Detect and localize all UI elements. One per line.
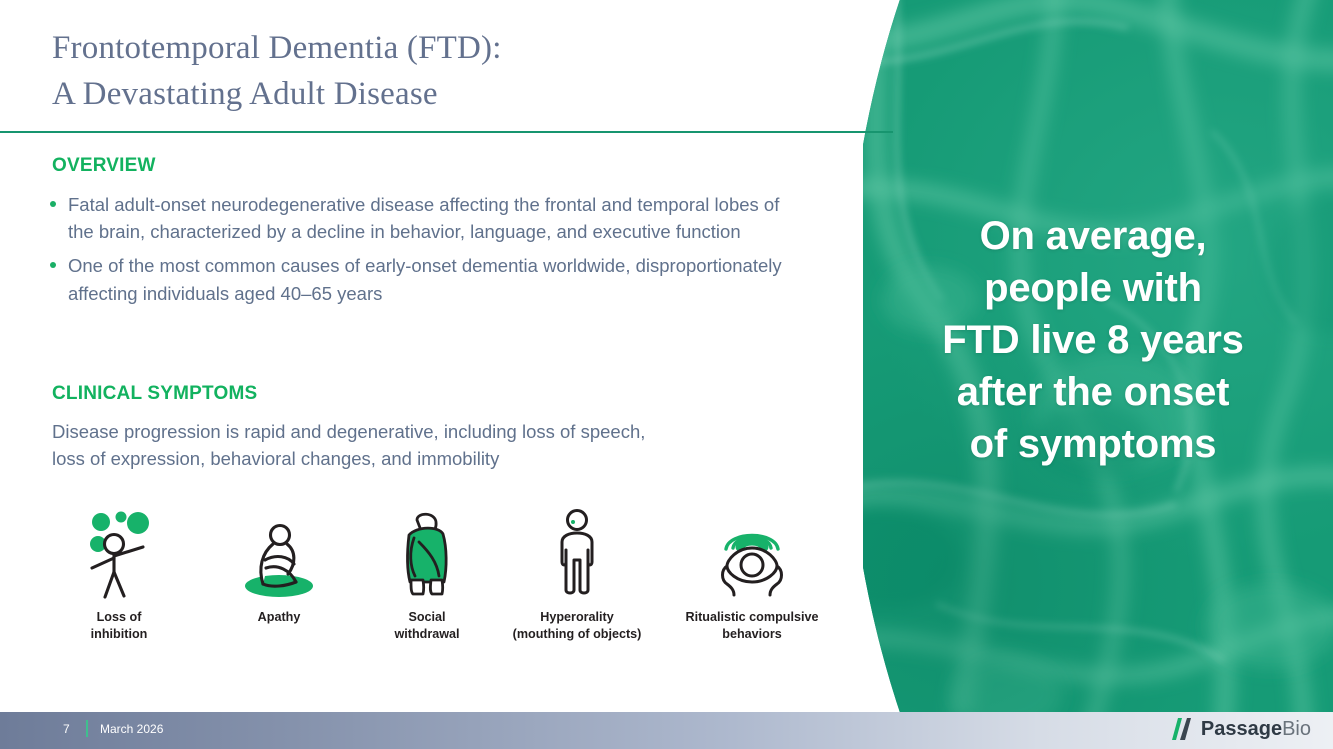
- footer-date: March 2026: [100, 722, 163, 736]
- logo-text-passage: Passage: [1201, 718, 1282, 740]
- slide-number: 7: [63, 722, 70, 736]
- person-speech-bubbles-icon: [34, 505, 204, 600]
- section-heading-clinical-symptoms: CLINICAL SYMPTOMS: [52, 383, 257, 405]
- slide-canvas: On average, people with FTD live 8 years…: [0, 0, 1333, 749]
- callout-quote: On average, people with FTD live 8 years…: [863, 210, 1323, 470]
- symptom-item-ritualistic-behaviors: Ritualistic compulsive behaviors: [652, 505, 852, 642]
- symptom-item-hyperorality: Hyperorality (mouthing of objects): [492, 505, 662, 642]
- person-withdrawn-icon: [342, 505, 512, 600]
- passage-bio-logo: PassageBio: [1172, 717, 1311, 740]
- person-standing-icon: [492, 505, 662, 600]
- symptom-label: Apathy: [194, 609, 364, 626]
- title-divider: [0, 131, 893, 133]
- passage-bio-wordmark: PassageBio: [1201, 719, 1311, 739]
- list-item: Fatal adult-onset neurodegenerative dise…: [46, 191, 806, 245]
- footer-bar: 7 March 2026 PassageBio: [0, 712, 1333, 749]
- section-heading-overview: OVERVIEW: [52, 155, 156, 177]
- symptom-label: Ritualistic compulsive behaviors: [652, 609, 852, 642]
- list-item: One of the most common causes of early-o…: [46, 252, 806, 306]
- person-sitting-hunched-icon: [194, 505, 364, 600]
- symptom-label: Social withdrawal: [342, 609, 512, 642]
- passage-bio-logomark-icon: [1172, 717, 1194, 740]
- symptom-label: Loss of inhibition: [34, 609, 204, 642]
- symptom-icon-row: Loss of inhibition Apathy: [52, 505, 872, 660]
- overview-bullet-list: Fatal adult-onset neurodegenerative dise…: [46, 191, 806, 314]
- symptom-item-social-withdrawal: Social withdrawal: [342, 505, 512, 642]
- logo-text-bio: Bio: [1282, 718, 1311, 740]
- symptom-item-apathy: Apathy: [194, 505, 364, 626]
- clinical-symptoms-body: Disease progression is rapid and degener…: [52, 418, 807, 473]
- head-hands-repetitive-icon: [652, 505, 852, 600]
- callout-panel: On average, people with FTD live 8 years…: [863, 0, 1333, 712]
- symptom-label: Hyperorality (mouthing of objects): [492, 609, 662, 642]
- symptom-item-loss-of-inhibition: Loss of inhibition: [34, 505, 204, 642]
- page-title: Frontotemporal Dementia (FTD): A Devasta…: [52, 26, 502, 117]
- footer-divider: [86, 720, 88, 737]
